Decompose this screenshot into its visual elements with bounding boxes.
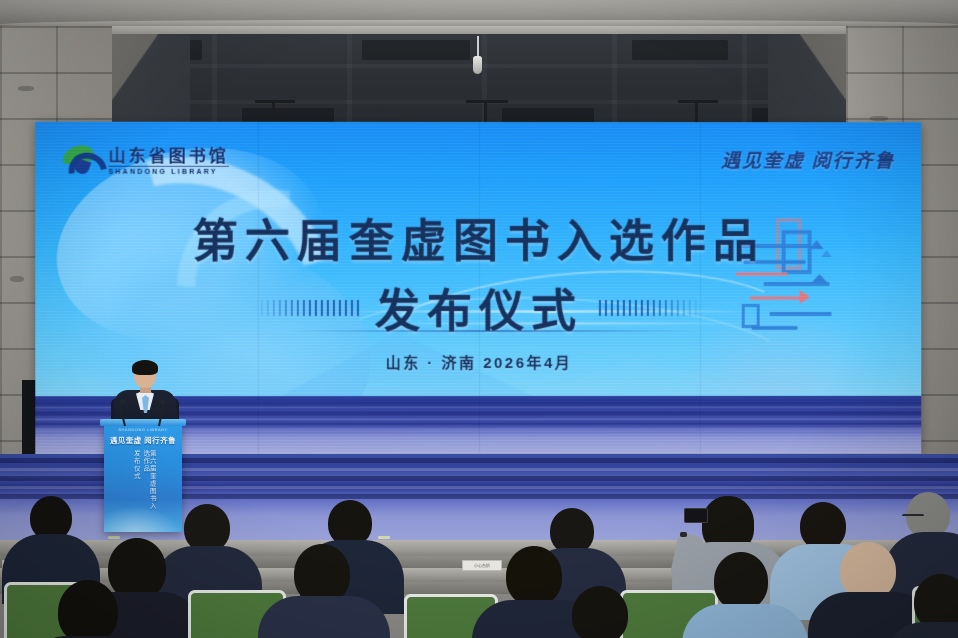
- microphone-head-icon: [120, 399, 125, 404]
- library-swoosh-logo-icon: [61, 144, 101, 180]
- smartphone: [684, 508, 708, 523]
- podium-logo-label: SHANDONG LIBRARY: [118, 427, 167, 432]
- backdrop-slogan: 遇见奎虚 阅行齐鲁: [721, 146, 895, 173]
- logo-name-cn: 山东省图书馆: [108, 148, 228, 165]
- microphone-head-icon: [160, 399, 165, 404]
- podium-slogan: 遇见奎虚 阅行齐鲁: [104, 435, 182, 446]
- tick-decoration-left: [255, 300, 359, 316]
- ceiling-light-truss: [255, 100, 295, 103]
- ceiling-light-truss: [466, 100, 508, 103]
- lamp-wire: [477, 36, 479, 58]
- ceremony-photo: 山东省图书馆 SHANDONG LIBRARY 遇见奎虚 阅行齐鲁: [0, 0, 958, 638]
- title-divider: [291, 330, 696, 332]
- logo-name-en: SHANDONG LIBRARY: [108, 166, 228, 176]
- pendant-lamp-icon: [473, 56, 482, 74]
- shandong-library-logo: 山东省图书馆 SHANDONG LIBRARY: [61, 144, 228, 180]
- eyeglasses: [902, 514, 924, 519]
- audience-group: [0, 486, 958, 638]
- ceiling-light-truss: [678, 100, 718, 103]
- wristwatch: [680, 532, 687, 537]
- tick-decoration-right: [599, 300, 703, 316]
- podium-top-surface: [100, 419, 186, 426]
